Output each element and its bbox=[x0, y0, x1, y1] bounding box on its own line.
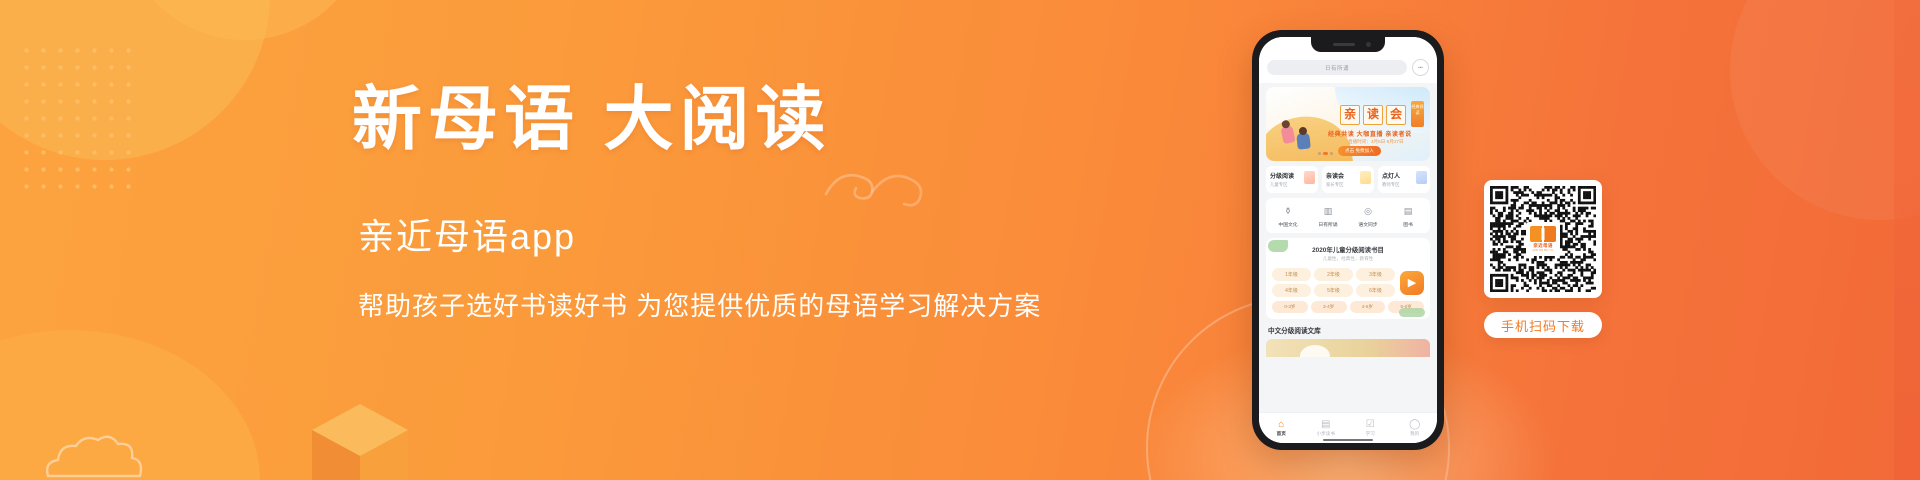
promo-banner: 新母语 大阅读 亲近母语app 帮助孩子选好书读好书 为您提供优质的母语学习解决… bbox=[0, 0, 1920, 480]
dot bbox=[1318, 152, 1321, 155]
circle-icon: ◎ bbox=[1361, 204, 1375, 218]
hero-time: 直播时间：4月6日-5月27日 bbox=[1348, 139, 1404, 145]
zone-card-parent[interactable]: 亲读会 家长专区 bbox=[1322, 166, 1374, 193]
page-title: 新母语 大阅读 bbox=[352, 86, 1132, 156]
app-name: 亲近母语app bbox=[358, 208, 1132, 260]
open-book-icon bbox=[1530, 226, 1556, 242]
speaker-icon bbox=[1333, 43, 1355, 46]
quick-entry-label: 图书 bbox=[1388, 221, 1428, 228]
grade-button[interactable]: 5年级 bbox=[1314, 284, 1353, 297]
decorative-circle-right bbox=[1730, 0, 1920, 220]
quick-entry-label: 日有所诵 bbox=[1308, 221, 1348, 228]
quick-entry-books[interactable]: ▤ 图书 bbox=[1388, 204, 1428, 228]
hero-cta-button[interactable]: 点击 免费加入 bbox=[1338, 146, 1381, 156]
age-button[interactable]: 0-3岁 bbox=[1272, 301, 1308, 313]
grade-button[interactable]: 1年级 bbox=[1272, 268, 1311, 281]
child-illustration-2 bbox=[1296, 132, 1311, 149]
search-input[interactable]: 日有所诵 bbox=[1267, 60, 1407, 75]
tab-home[interactable]: ⌂ 首页 bbox=[1259, 419, 1304, 437]
grade-button[interactable]: 6年级 bbox=[1356, 284, 1395, 297]
person-icon bbox=[1416, 171, 1427, 184]
book-pages-icon: ▥ bbox=[1321, 204, 1335, 218]
book-list-card: 2020年儿童分级阅读书目 儿童性，经典性，教育性 1年级 2年级 3年级 4年… bbox=[1266, 238, 1430, 319]
decorative-dot-grid bbox=[18, 42, 138, 192]
leaf-icon bbox=[1399, 308, 1425, 317]
tab-label: 我的 bbox=[1393, 431, 1438, 437]
camera-icon bbox=[1366, 42, 1371, 47]
hero-title-char: 会 bbox=[1386, 105, 1406, 125]
user-icon: ◯ bbox=[1393, 419, 1438, 430]
quick-entry-label: 语文同步 bbox=[1348, 221, 1388, 228]
dot-active bbox=[1323, 152, 1328, 155]
tab-label: 首页 bbox=[1259, 431, 1304, 437]
decorative-circle-top-left-2 bbox=[120, 0, 370, 40]
age-button[interactable]: 4-5岁 bbox=[1350, 301, 1386, 313]
tab-reading[interactable]: ▤ 小步读书 bbox=[1304, 419, 1349, 437]
banner-copy: 新母语 大阅读 亲近母语app 帮助孩子选好书读好书 为您提供优质的母语学习解决… bbox=[352, 86, 1132, 323]
checklist-icon: ☑ bbox=[1348, 419, 1393, 430]
book-icon bbox=[1360, 171, 1371, 184]
grade-button[interactable]: 4年级 bbox=[1272, 284, 1311, 297]
book-icon: ▤ bbox=[1401, 204, 1415, 218]
download-button[interactable]: 手机扫码下载 bbox=[1484, 312, 1602, 338]
hero-title: 亲 读 会 bbox=[1340, 105, 1406, 125]
qr-block: 亲近母语 QIN JIN MU YU 手机扫码下载 bbox=[1484, 180, 1602, 338]
quick-entry-daily-recite[interactable]: ▥ 日有所诵 bbox=[1308, 204, 1348, 228]
grade-button[interactable]: 3年级 bbox=[1356, 268, 1395, 281]
decorative-circle-bottom-left bbox=[0, 330, 260, 480]
qr-code: 亲近母语 QIN JIN MU YU bbox=[1484, 180, 1602, 298]
quick-entry-chinese-culture[interactable]: ⚱ 中国文化 bbox=[1268, 204, 1308, 228]
cloud-icon bbox=[40, 420, 190, 480]
book-icon: ▤ bbox=[1304, 419, 1349, 430]
tab-study[interactable]: ☑ 学习 bbox=[1348, 419, 1393, 437]
birds-icon: ✦ ✧ bbox=[1288, 100, 1306, 107]
video-play-icon[interactable]: ▶ bbox=[1400, 271, 1424, 295]
brand-pinyin: QIN JIN MU YU bbox=[1533, 249, 1554, 252]
decorative-cube bbox=[300, 386, 420, 480]
book-card-subtitle: 儿童性，经典性，教育性 bbox=[1272, 256, 1424, 262]
quick-entry-label: 中国文化 bbox=[1268, 221, 1308, 228]
hero-ribbon: 经典领读 bbox=[1411, 101, 1424, 127]
brand-logo: 亲近母语 QIN JIN MU YU bbox=[1526, 222, 1560, 256]
hero-title-char: 读 bbox=[1363, 105, 1383, 125]
hero-title-char: 亲 bbox=[1340, 105, 1360, 125]
age-button[interactable]: 3-4岁 bbox=[1311, 301, 1347, 313]
quick-entry-sync-chinese[interactable]: ◎ 语文同步 bbox=[1348, 204, 1388, 228]
phone-mockup: 日有所诵 ••• ✦ ✧ 亲 读 会 经典领读 经典共读 大咖直播 亲读者说 直… bbox=[1252, 30, 1444, 450]
leaf-icon bbox=[1268, 240, 1288, 252]
library-section-title: 中文分级阅读文库 bbox=[1268, 325, 1428, 335]
carousel-dots[interactable] bbox=[1318, 152, 1333, 155]
more-icon[interactable]: ••• bbox=[1412, 59, 1429, 76]
decorative-right-stripe bbox=[1894, 0, 1920, 480]
library-banner[interactable] bbox=[1266, 339, 1430, 357]
dot bbox=[1330, 152, 1333, 155]
hero-subtitle: 经典共读 大咖直播 亲读者说 bbox=[1328, 129, 1412, 138]
book-card-title: 2020年儿童分级阅读书目 bbox=[1272, 245, 1424, 254]
phone-screen: 日有所诵 ••• ✦ ✧ 亲 读 会 经典领读 经典共读 大咖直播 亲读者说 直… bbox=[1259, 37, 1437, 443]
phone-notch bbox=[1311, 37, 1385, 52]
quick-entries: ⚱ 中国文化 ▥ 日有所诵 ◎ 语文同步 ▤ 图书 bbox=[1266, 198, 1430, 233]
zone-card-graded-reading[interactable]: 分级阅读 儿童专区 bbox=[1266, 166, 1318, 193]
home-icon: ⌂ bbox=[1259, 419, 1304, 430]
grade-button[interactable]: 2年级 bbox=[1314, 268, 1353, 281]
zone-card-teacher[interactable]: 点灯人 教师专区 bbox=[1378, 166, 1430, 193]
tab-label: 小步读书 bbox=[1304, 431, 1349, 437]
home-indicator bbox=[1323, 439, 1373, 442]
decorative-circle-top-left bbox=[0, 0, 270, 160]
zone-cards: 分级阅读 儿童专区 亲读会 家长专区 点灯人 教师专区 bbox=[1266, 166, 1430, 193]
tab-profile[interactable]: ◯ 我的 bbox=[1393, 419, 1438, 437]
tab-label: 学习 bbox=[1348, 431, 1393, 437]
hero-banner[interactable]: ✦ ✧ 亲 读 会 经典领读 经典共读 大咖直播 亲读者说 直播时间：4月6日-… bbox=[1266, 87, 1430, 161]
tagline: 帮助孩子选好书读好书 为您提供优质的母语学习解决方案 bbox=[358, 286, 1132, 323]
grade-selector: 1年级 2年级 3年级 4年级 5年级 6年级 ▶ bbox=[1272, 268, 1424, 297]
vase-icon: ⚱ bbox=[1281, 204, 1295, 218]
book-icon bbox=[1304, 171, 1315, 184]
